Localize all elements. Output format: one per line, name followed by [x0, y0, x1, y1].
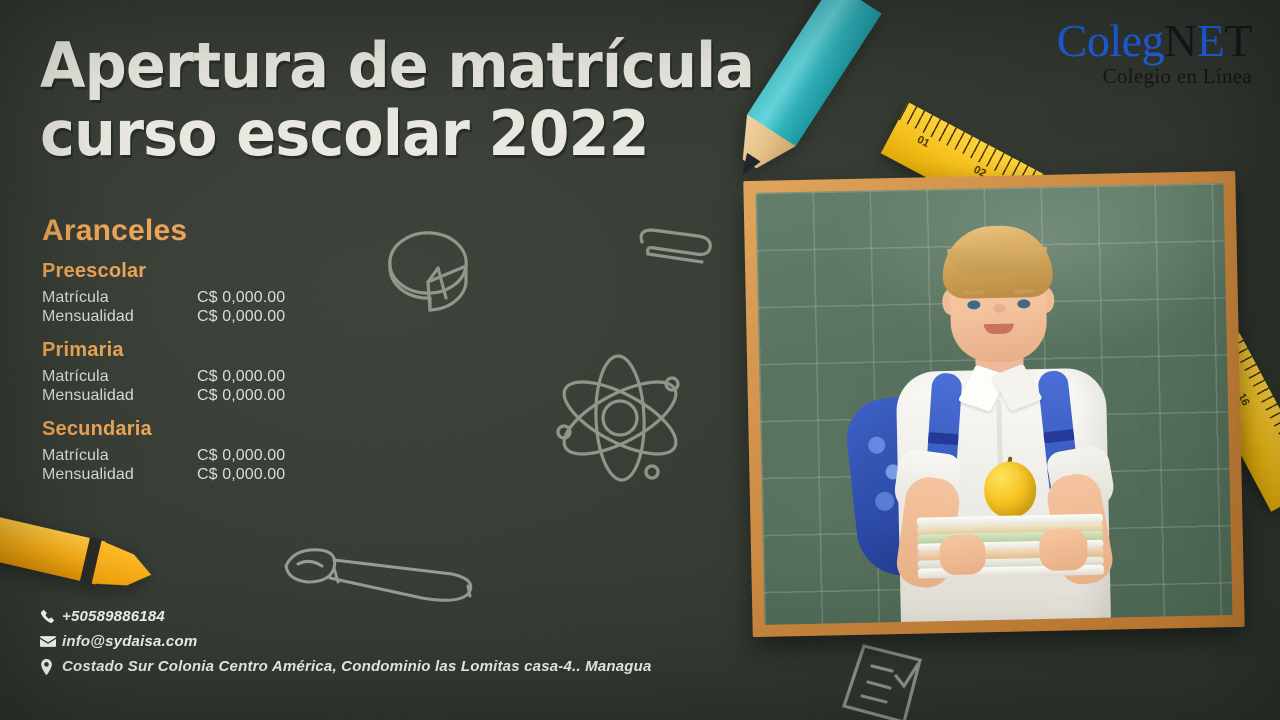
- phone-icon: [40, 609, 62, 624]
- logo-wordmark: ColegNET: [1057, 16, 1252, 66]
- fee-value: C$ 0,000.00: [197, 288, 372, 307]
- pie-chart-doodle: [368, 222, 488, 332]
- phone-number: +50589886184: [62, 608, 165, 625]
- fee-row: Mensualidad C$ 0,000.00: [42, 307, 372, 326]
- contact-row-phone[interactable]: +50589886184: [40, 608, 652, 625]
- fee-value: C$ 0,000.00: [197, 386, 372, 405]
- paperclip-doodle: [632, 222, 718, 274]
- fee-group-preescolar: Preescolar Matrícula C$ 0,000.00 Mensual…: [42, 260, 372, 326]
- yellow-apple: [984, 461, 1037, 518]
- fee-value: C$ 0,000.00: [197, 465, 372, 484]
- envelope-icon: [40, 635, 62, 648]
- fee-group-secundaria: Secundaria Matrícula C$ 0,000.00 Mensual…: [42, 418, 372, 484]
- logo-part-t: T: [1224, 15, 1252, 66]
- pen-nib-doodle: [272, 530, 492, 616]
- crayon-tip: [92, 541, 156, 596]
- logo-part-coleg: Coleg: [1057, 15, 1164, 66]
- fees-section: Aranceles Preescolar Matrícula C$ 0,000.…: [42, 214, 372, 497]
- eyebrow-left: [964, 290, 984, 294]
- fee-row: Matrícula C$ 0,000.00: [42, 288, 372, 307]
- fee-label: Matrícula: [42, 367, 197, 386]
- fees-heading: Aranceles: [42, 214, 372, 248]
- fee-level-label: Preescolar: [42, 260, 372, 283]
- fee-level-label: Secundaria: [42, 418, 372, 441]
- street-address: Costado Sur Colonia Centro América, Cond…: [62, 658, 652, 675]
- location-pin-icon: [40, 659, 62, 675]
- logo-part-n: N: [1164, 15, 1197, 66]
- schoolboy-illustration: [836, 201, 1165, 625]
- fee-row: Matrícula C$ 0,000.00: [42, 446, 372, 465]
- logo-part-e: E: [1197, 15, 1225, 66]
- orange-crayon: [0, 504, 156, 596]
- fee-value: C$ 0,000.00: [197, 307, 372, 326]
- title-line-2: curso escolar 2022: [40, 100, 734, 168]
- hair-fringe: [947, 247, 1048, 275]
- hand-right: [1039, 528, 1088, 571]
- fee-label: Mensualidad: [42, 386, 197, 405]
- fee-row: Matrícula C$ 0,000.00: [42, 367, 372, 386]
- contact-row-address[interactable]: Costado Sur Colonia Centro América, Cond…: [40, 658, 652, 675]
- contact-section: +50589886184 info@sydaisa.com Costado Su…: [40, 608, 652, 683]
- checklist-doodle: [834, 638, 940, 720]
- title-line-1: Apertura de matrícula: [40, 32, 734, 100]
- fee-value: C$ 0,000.00: [197, 446, 372, 465]
- email-address: info@sydaisa.com: [62, 633, 197, 650]
- hand-left: [939, 534, 986, 575]
- fee-label: Matrícula: [42, 288, 197, 307]
- fee-label: Matrícula: [42, 446, 197, 465]
- fee-label: Mensualidad: [42, 307, 197, 326]
- contact-row-email[interactable]: info@sydaisa.com: [40, 633, 652, 650]
- fee-label: Mensualidad: [42, 465, 197, 484]
- strap-buckle: [928, 432, 959, 445]
- strap-buckle: [1043, 429, 1074, 443]
- brand-logo: ColegNET Colegio en Línea: [1057, 16, 1252, 88]
- fee-row: Mensualidad C$ 0,000.00: [42, 465, 372, 484]
- atom-doodle: [540, 348, 700, 488]
- fee-value: C$ 0,000.00: [197, 367, 372, 386]
- fee-group-primaria: Primaria Matrícula C$ 0,000.00 Mensualid…: [42, 339, 372, 405]
- fee-level-label: Primaria: [42, 339, 372, 362]
- page-title: Apertura de matrícula curso escolar 2022: [40, 32, 770, 168]
- chalkboard-photo: [756, 183, 1233, 625]
- photo-frame: [743, 171, 1244, 637]
- logo-tagline: Colegio en Línea: [1057, 64, 1252, 88]
- fee-row: Mensualidad C$ 0,000.00: [42, 386, 372, 405]
- eyebrow-right: [1014, 289, 1034, 293]
- poster-canvas: 01 02 15 16: [0, 0, 1280, 720]
